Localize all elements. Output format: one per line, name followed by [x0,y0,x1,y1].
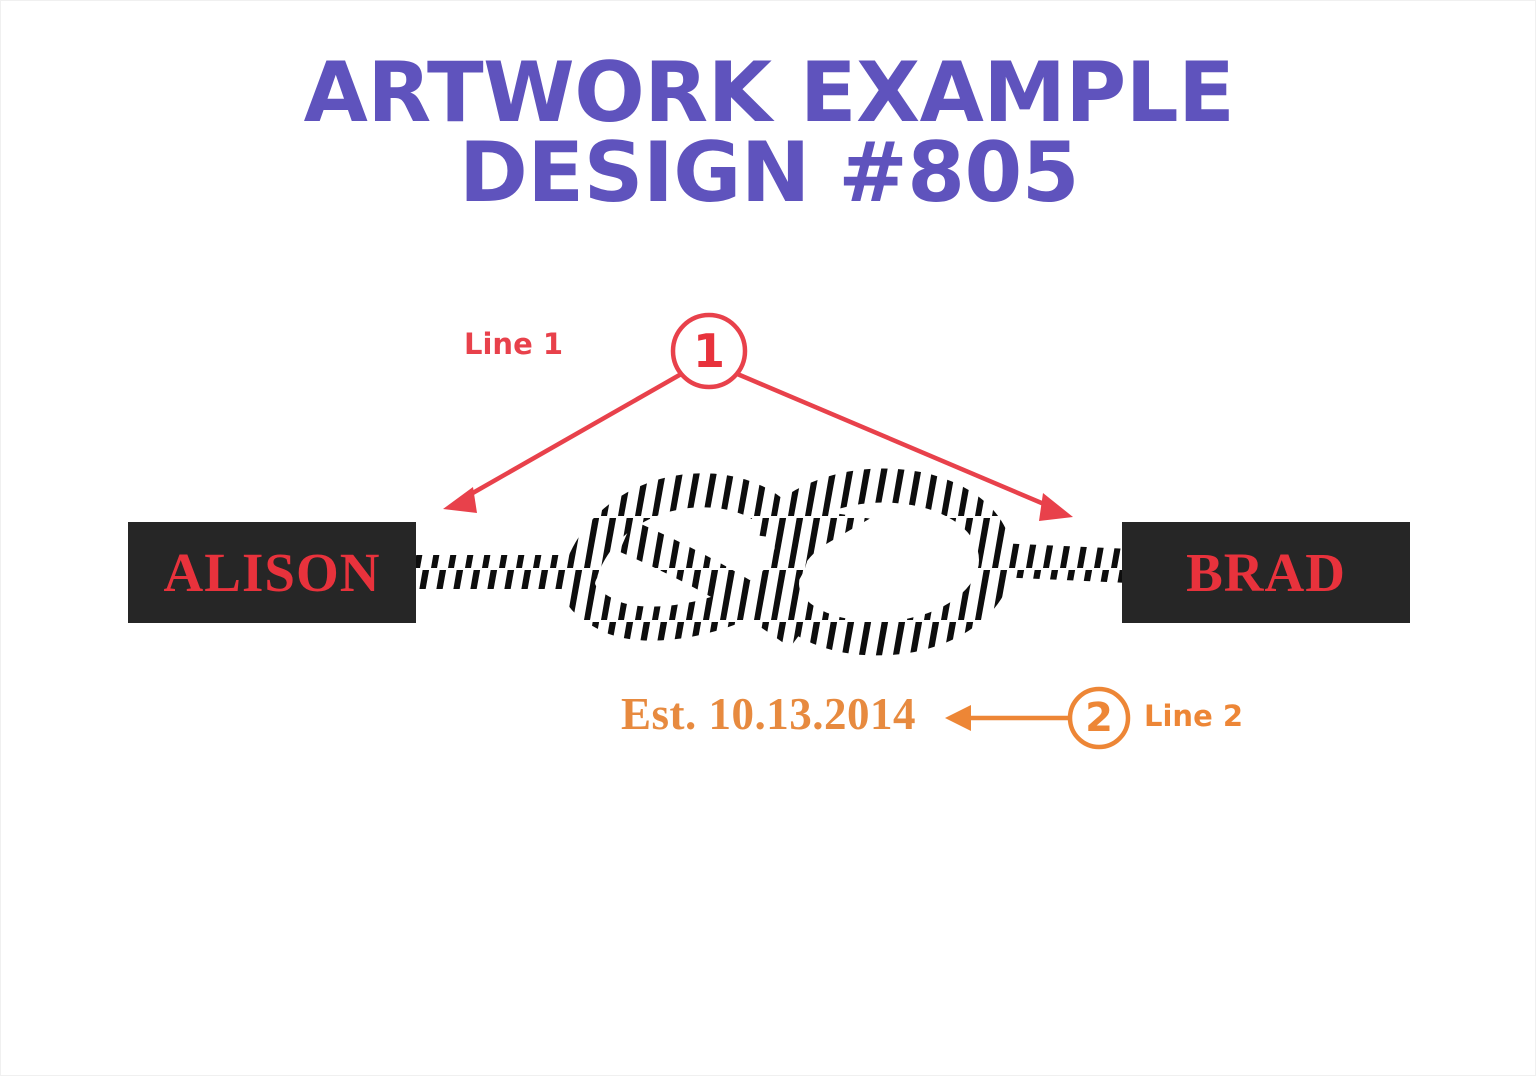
callout-1-label: Line 1 [464,327,563,361]
callout-2-graphic[interactable]: 2 [931,679,1141,765]
callout-1-badge-number: 1 [693,324,725,378]
callout-1-arrow-right [735,373,1073,521]
name-plate-left[interactable]: ALISON [128,522,416,623]
artwork-proof-canvas: ARTWORK EXAMPLE DESIGN #805 [0,0,1536,1076]
name-plate-left-text: ALISON [164,541,381,604]
callout-1-arrow-left [443,373,683,513]
title-line-1: ARTWORK EXAMPLE [1,53,1536,133]
title-line-2: DESIGN #805 [1,133,1536,213]
established-date-text[interactable]: Est. 10.13.2014 [621,688,916,740]
name-plate-right[interactable]: BRAD [1122,522,1410,623]
name-plate-right-text: BRAD [1186,541,1346,604]
callout-2-badge-number: 2 [1085,695,1113,741]
page-title: ARTWORK EXAMPLE DESIGN #805 [1,53,1536,212]
callout-2-label: Line 2 [1144,699,1243,733]
